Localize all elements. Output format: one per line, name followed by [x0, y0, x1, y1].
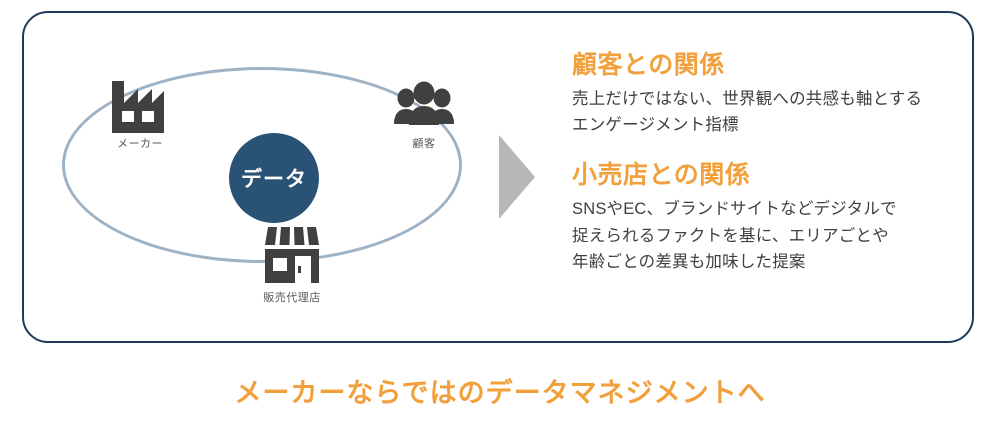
- factory-icon: [104, 61, 176, 133]
- main-card: メーカー 顧客: [22, 11, 974, 343]
- relationship-body-line: 年齢ごとの差異も加味した提案: [572, 249, 992, 276]
- relationship-body-line: 売上だけではない、世界観への共感も軸とする: [572, 86, 992, 113]
- diagram-node-customer: 顧客: [364, 81, 484, 151]
- flow-arrow: [499, 135, 539, 220]
- data-flow-diagram: メーカー 顧客: [24, 13, 544, 345]
- diagram-node-customer-label: 顧客: [364, 135, 484, 151]
- diagram-node-maker-label: メーカー: [70, 135, 210, 151]
- diagram-node-maker: メーカー: [70, 61, 210, 151]
- data-center-label: データ: [241, 163, 307, 193]
- people-group-icon: [393, 81, 455, 133]
- diagram-node-retail-label: 販売代理店: [222, 289, 362, 305]
- relationship-heading-retail: 小売店との関係: [572, 161, 992, 190]
- diagram-node-retail: 販売代理店: [222, 225, 362, 305]
- relationship-body-line: SNSやEC、ブランドサイトなどデジタルで: [572, 196, 992, 223]
- bottom-caption: メーカーならではのデータマネジメントへ: [0, 371, 1000, 410]
- storefront-icon: [260, 225, 324, 287]
- relationship-heading-customer: 顧客との関係: [572, 51, 992, 80]
- relationship-body-line: エンゲージメント指標: [572, 112, 992, 139]
- relationship-block-customer: 顧客との関係 売上だけではない、世界観への共感も軸とする エンゲージメント指標: [572, 51, 992, 139]
- data-center-circle: データ: [229, 133, 319, 223]
- relationship-text-panel: 顧客との関係 売上だけではない、世界観への共感も軸とする エンゲージメント指標 …: [572, 51, 992, 276]
- relationship-block-retail: 小売店との関係 SNSやEC、ブランドサイトなどデジタルで 捉えられるファクトを…: [572, 161, 992, 276]
- triangle-right-icon: [499, 135, 535, 219]
- relationship-body-line: 捉えられるファクトを基に、エリアごとや: [572, 223, 992, 250]
